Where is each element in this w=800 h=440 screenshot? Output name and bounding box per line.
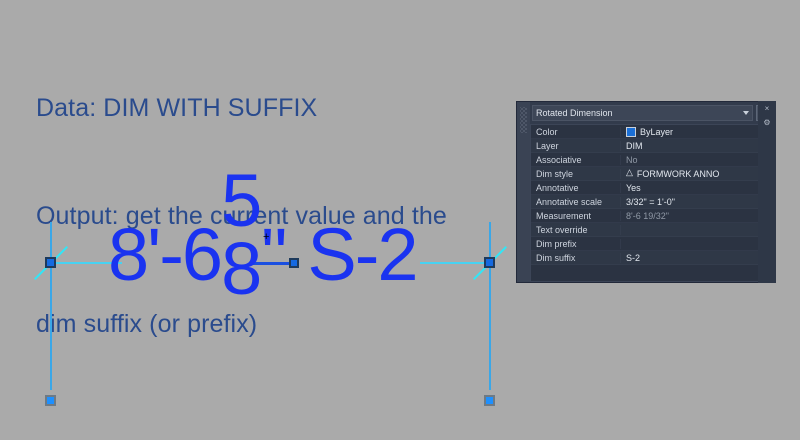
prop-name: Dim prefix (531, 239, 621, 249)
extension-line-left (50, 222, 52, 390)
palette-titlebar: Rotated Dimension (530, 102, 775, 124)
prop-name: Layer (531, 141, 621, 151)
table-row[interactable]: Layer DIM (531, 139, 775, 153)
table-row[interactable]: Dim style △ FORMWORK ANNO (531, 167, 775, 181)
prop-name: Associative (531, 155, 621, 165)
properties-palette: Rotated Dimension Color ByLayer Layer DI… (516, 101, 776, 283)
prop-value[interactable]: ByLayer (621, 127, 775, 137)
prop-value-text: 3/32" = 1'-0" (626, 197, 675, 207)
prop-value: No (621, 155, 775, 165)
prop-name: Text override (531, 225, 621, 235)
grip-dimension-text[interactable] (289, 258, 299, 268)
prop-value-text: 8'-6 19/32" (626, 211, 669, 221)
object-type-label: Rotated Dimension (536, 108, 740, 118)
dimension-feet-inches: 8'-6 (108, 213, 221, 296)
prop-value[interactable]: DIM (621, 141, 775, 151)
close-icon[interactable]: × (765, 105, 770, 113)
table-row[interactable]: Dim prefix (531, 237, 775, 251)
extension-line-right (489, 222, 491, 390)
properties-rows: Color ByLayer Layer DIM Associative No (530, 124, 775, 282)
prop-value[interactable]: △ FORMWORK ANNO (621, 168, 775, 179)
prop-name: Dim suffix (531, 253, 621, 263)
dimension-suffix-text: S-2 (307, 213, 416, 296)
prop-value[interactable]: S-2 (621, 253, 775, 263)
grip-dimension-line-right[interactable] (484, 257, 495, 268)
prop-value[interactable]: Yes (621, 183, 775, 193)
table-row[interactable]: Associative No (531, 153, 775, 167)
color-swatch-icon (626, 127, 636, 137)
grip-origin-left[interactable] (45, 395, 56, 406)
dimension-fraction: 58 (221, 206, 261, 280)
fraction-denominator: 8 (221, 232, 260, 306)
dimension-text: 8'-658"S-2 (108, 206, 417, 292)
prop-value-text: No (626, 155, 638, 165)
prop-value-text: FORMWORK ANNO (637, 169, 720, 179)
prop-value-text: ByLayer (640, 127, 673, 137)
table-row[interactable]: Color ByLayer (531, 125, 775, 139)
prop-name: Dim style (531, 169, 621, 179)
prop-value: 8'-6 19/32" (621, 211, 775, 221)
gear-icon[interactable]: ⚙ (763, 119, 770, 127)
chevron-down-icon[interactable] (743, 111, 749, 115)
palette-side-buttons: × ⚙ (758, 101, 776, 283)
table-row[interactable]: Annotative scale 3/32" = 1'-0" (531, 195, 775, 209)
table-row[interactable]: Dim suffix S-2 (531, 251, 775, 265)
palette-body: Rotated Dimension Color ByLayer Layer DI… (530, 102, 775, 282)
prop-value-text: DIM (626, 141, 643, 151)
prop-name: Annotative (531, 183, 621, 193)
table-row[interactable]: Measurement 8'-6 19/32" (531, 209, 775, 223)
prop-name: Measurement (531, 211, 621, 221)
prop-value-text: Yes (626, 183, 641, 193)
dimension-line-right-segment (420, 262, 490, 264)
palette-drag-handle[interactable] (517, 102, 530, 282)
grip-origin-right[interactable] (484, 395, 495, 406)
prop-name: Color (531, 127, 621, 137)
prop-value[interactable]: 3/32" = 1'-0" (621, 197, 775, 207)
table-row[interactable]: Annotative Yes (531, 181, 775, 195)
crosshair-cursor-icon: + (263, 232, 269, 243)
grip-dots-icon (520, 107, 527, 133)
table-row[interactable]: Text override (531, 223, 775, 237)
inch-mark: " (261, 213, 285, 296)
object-type-combobox[interactable]: Rotated Dimension (532, 105, 753, 121)
annotative-icon: △ (626, 168, 633, 178)
prop-value-text: S-2 (626, 253, 640, 263)
prop-name: Annotative scale (531, 197, 621, 207)
grip-dimension-line-left[interactable] (45, 257, 56, 268)
